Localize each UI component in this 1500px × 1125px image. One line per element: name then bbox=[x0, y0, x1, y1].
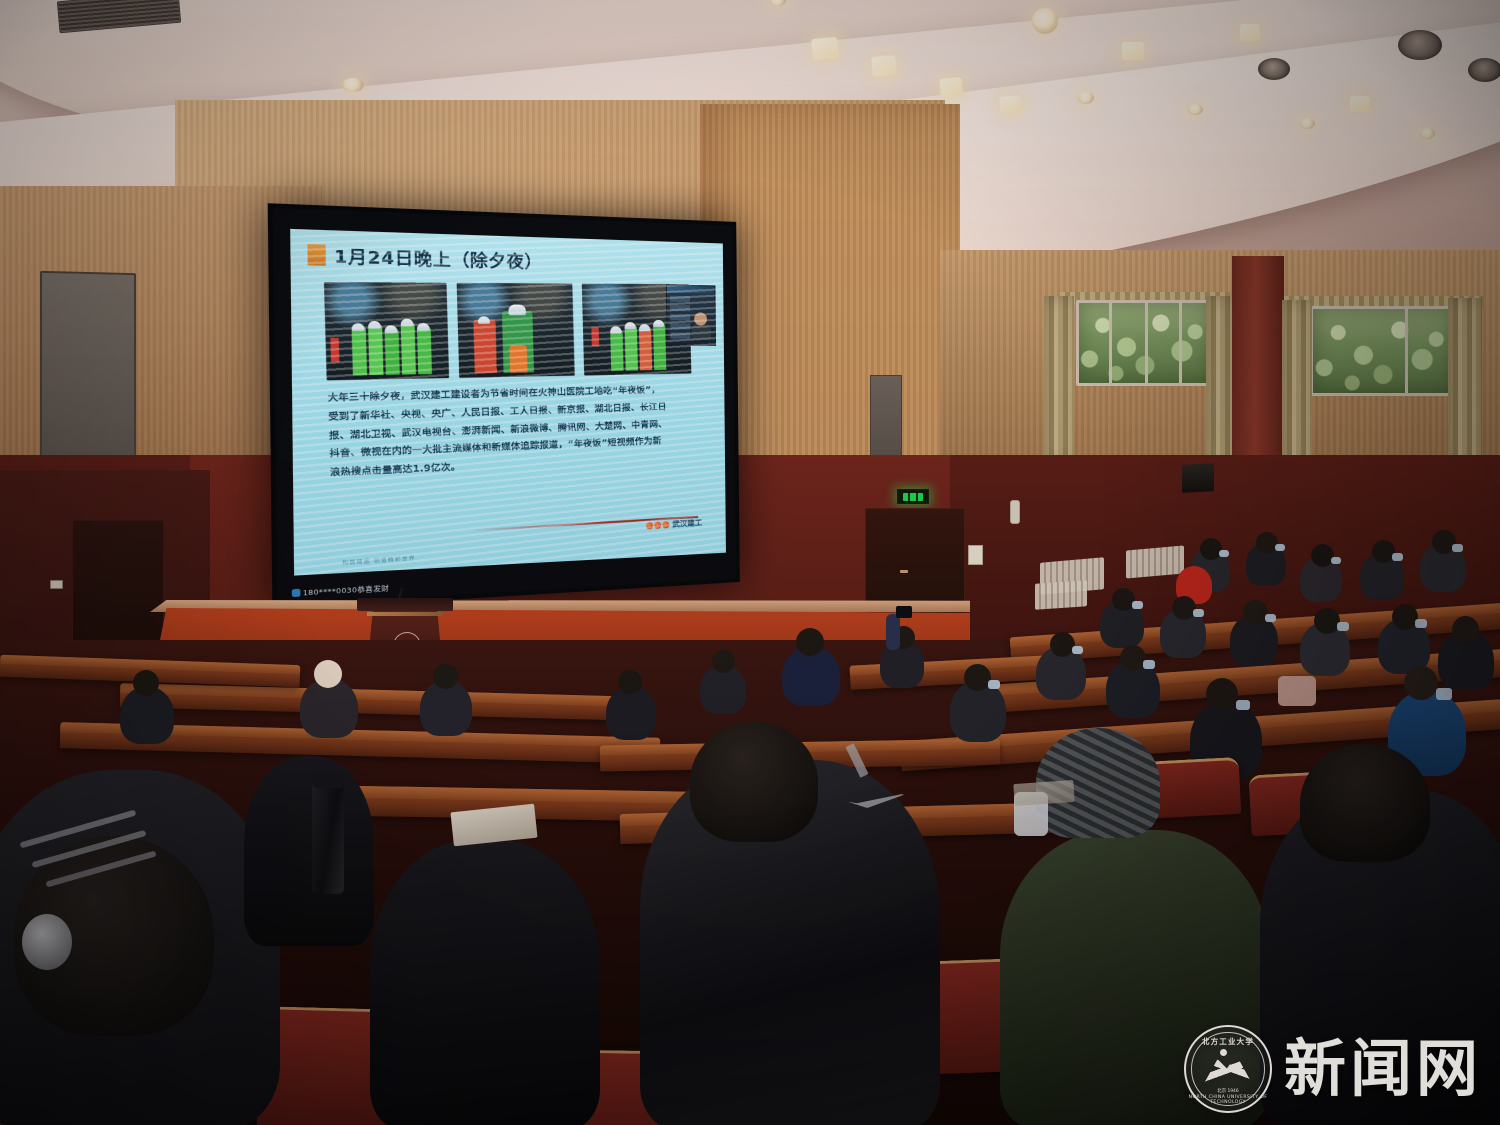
audience-head bbox=[1206, 678, 1238, 710]
ceiling-downlight bbox=[1032, 8, 1058, 34]
light-switch[interactable] bbox=[50, 580, 63, 589]
osd-text: 180****0030恭喜发财 bbox=[303, 582, 389, 598]
slide-brand-logo: 武汉建工 bbox=[646, 517, 702, 532]
ceiling-panel-light bbox=[1350, 96, 1370, 112]
watermark: 北方工业大学 北京 1946 NORTH CHINA UNIVERSITY OF… bbox=[1184, 1025, 1482, 1113]
face-mask bbox=[1219, 550, 1229, 557]
ceiling-panel-light bbox=[811, 37, 839, 60]
slide-content: 1月24日晚上（除夕夜） bbox=[290, 229, 726, 576]
audience-head bbox=[712, 650, 735, 673]
foreground-student-center bbox=[370, 840, 600, 1125]
audience-head bbox=[1200, 538, 1222, 560]
foreground-head-nike bbox=[690, 722, 818, 842]
face-mask bbox=[1236, 700, 1250, 710]
water-bottle bbox=[312, 778, 344, 894]
ceiling-downlight bbox=[1300, 118, 1315, 129]
face-mask bbox=[1275, 544, 1285, 551]
audience-head bbox=[1256, 532, 1278, 554]
face-mask bbox=[988, 680, 1000, 689]
wall-fire-extinguisher-sign bbox=[1010, 500, 1020, 524]
audience-head bbox=[314, 660, 342, 688]
audience-head bbox=[1392, 604, 1418, 630]
exit-sign bbox=[897, 489, 929, 504]
slide-logo-text: 武汉建工 bbox=[672, 517, 702, 530]
seal-mountain-icon bbox=[1202, 1053, 1254, 1087]
face-mask bbox=[1265, 614, 1276, 622]
raised-arm bbox=[886, 614, 900, 650]
face-mask bbox=[1415, 619, 1427, 628]
ceiling-downlight bbox=[1078, 92, 1094, 104]
slide-title: 1月24日晚上（除夕夜） bbox=[334, 242, 543, 274]
face-mask bbox=[1331, 557, 1341, 564]
brand-dots-icon bbox=[646, 521, 669, 530]
screen-osd-overlay: 180****0030恭喜发财 bbox=[292, 582, 389, 599]
back-wall-wood-panel bbox=[700, 104, 960, 504]
slide-photo-1 bbox=[324, 282, 450, 380]
ceiling-panel-light bbox=[939, 77, 962, 97]
lecture-hall-photo: 1月24日晚上（除夕夜） bbox=[0, 0, 1500, 1125]
face-mask bbox=[1143, 660, 1155, 669]
slide-footer-note: 构筑精品 创造精彩世界 bbox=[342, 554, 416, 567]
wall-pillar bbox=[1232, 256, 1284, 476]
ceiling-panel-light bbox=[999, 95, 1021, 114]
audience-head bbox=[133, 670, 159, 696]
foreground-head-right bbox=[1300, 744, 1430, 862]
title-accent-tab bbox=[307, 243, 325, 265]
radiator bbox=[1126, 545, 1184, 578]
ceiling-panel-light bbox=[871, 55, 897, 77]
seal-bottom-text: NORTH CHINA UNIVERSITY OF TECHNOLOGY bbox=[1186, 1095, 1270, 1105]
curtain bbox=[1448, 298, 1482, 480]
audience-head bbox=[1050, 632, 1075, 657]
audience-head bbox=[1172, 596, 1196, 620]
projection-screen[interactable]: 1月24日晚上（除夕夜） bbox=[268, 203, 740, 610]
water-bottle-cap bbox=[312, 774, 344, 788]
face-mask bbox=[1337, 622, 1349, 631]
curtain bbox=[1044, 296, 1074, 464]
headphone-earcup bbox=[22, 914, 72, 970]
podium-top bbox=[357, 598, 453, 611]
slide-photo-2 bbox=[457, 283, 574, 378]
audience-member bbox=[606, 686, 656, 740]
ceiling-downlight bbox=[1420, 128, 1435, 139]
radiator bbox=[1035, 580, 1087, 610]
audience-head bbox=[1243, 600, 1268, 625]
face-mask bbox=[1072, 646, 1083, 654]
audience-head bbox=[618, 670, 642, 694]
audience-head bbox=[1120, 645, 1146, 671]
window-left bbox=[1076, 300, 1214, 386]
podium-trim bbox=[367, 612, 443, 616]
wall-speaker bbox=[1182, 463, 1214, 493]
wall-notice bbox=[968, 545, 983, 565]
audience-head bbox=[433, 664, 458, 689]
handbag bbox=[1278, 676, 1316, 706]
ceiling-panel-light bbox=[1122, 42, 1144, 60]
foreground-student-ponytail bbox=[244, 756, 374, 946]
face-mask bbox=[1436, 688, 1452, 700]
university-seal-logo: 北方工业大学 北京 1946 NORTH CHINA UNIVERSITY OF… bbox=[1184, 1025, 1272, 1113]
audience-head bbox=[964, 664, 991, 691]
slide-photo-row bbox=[324, 282, 691, 380]
audience-head bbox=[1452, 616, 1479, 643]
face-mask bbox=[1132, 601, 1143, 609]
audience-head bbox=[1311, 544, 1334, 567]
audience-head bbox=[796, 628, 824, 656]
face-mask bbox=[1392, 553, 1403, 561]
video-call-inset bbox=[666, 284, 716, 345]
curtain bbox=[1206, 296, 1232, 472]
ceiling-downlight bbox=[1188, 104, 1203, 115]
audience-head bbox=[1404, 666, 1438, 700]
slide-body-text: 大年三十除夕夜，武汉建工建设者为节省时间在火神山医院工地吃“年夜饭”， 受到了新… bbox=[328, 381, 703, 483]
audience-head bbox=[1314, 608, 1340, 634]
seal-sun-icon bbox=[1220, 1049, 1227, 1056]
door-handle[interactable] bbox=[900, 570, 908, 573]
ceiling-downlight bbox=[1398, 30, 1442, 60]
seal-year-text: 北京 1946 bbox=[1186, 1088, 1270, 1094]
watermark-site-name: 新闻网 bbox=[1284, 1038, 1482, 1100]
ceiling-downlight bbox=[1468, 58, 1500, 82]
smartphone bbox=[896, 606, 912, 618]
face-mask bbox=[1193, 609, 1204, 617]
acoustic-panel bbox=[40, 271, 136, 459]
ceiling-downlight bbox=[342, 78, 364, 92]
face-mask bbox=[1452, 544, 1463, 552]
ceiling-downlight bbox=[1258, 58, 1290, 80]
slide-title-row: 1月24日晚上（除夕夜） bbox=[307, 241, 542, 274]
seal-top-text: 北方工业大学 bbox=[1186, 1036, 1270, 1047]
osd-icon bbox=[292, 588, 301, 596]
curtain bbox=[1282, 300, 1312, 476]
notebook bbox=[1013, 780, 1074, 806]
window-right bbox=[1310, 306, 1456, 396]
ceiling-panel-light bbox=[1240, 24, 1260, 41]
